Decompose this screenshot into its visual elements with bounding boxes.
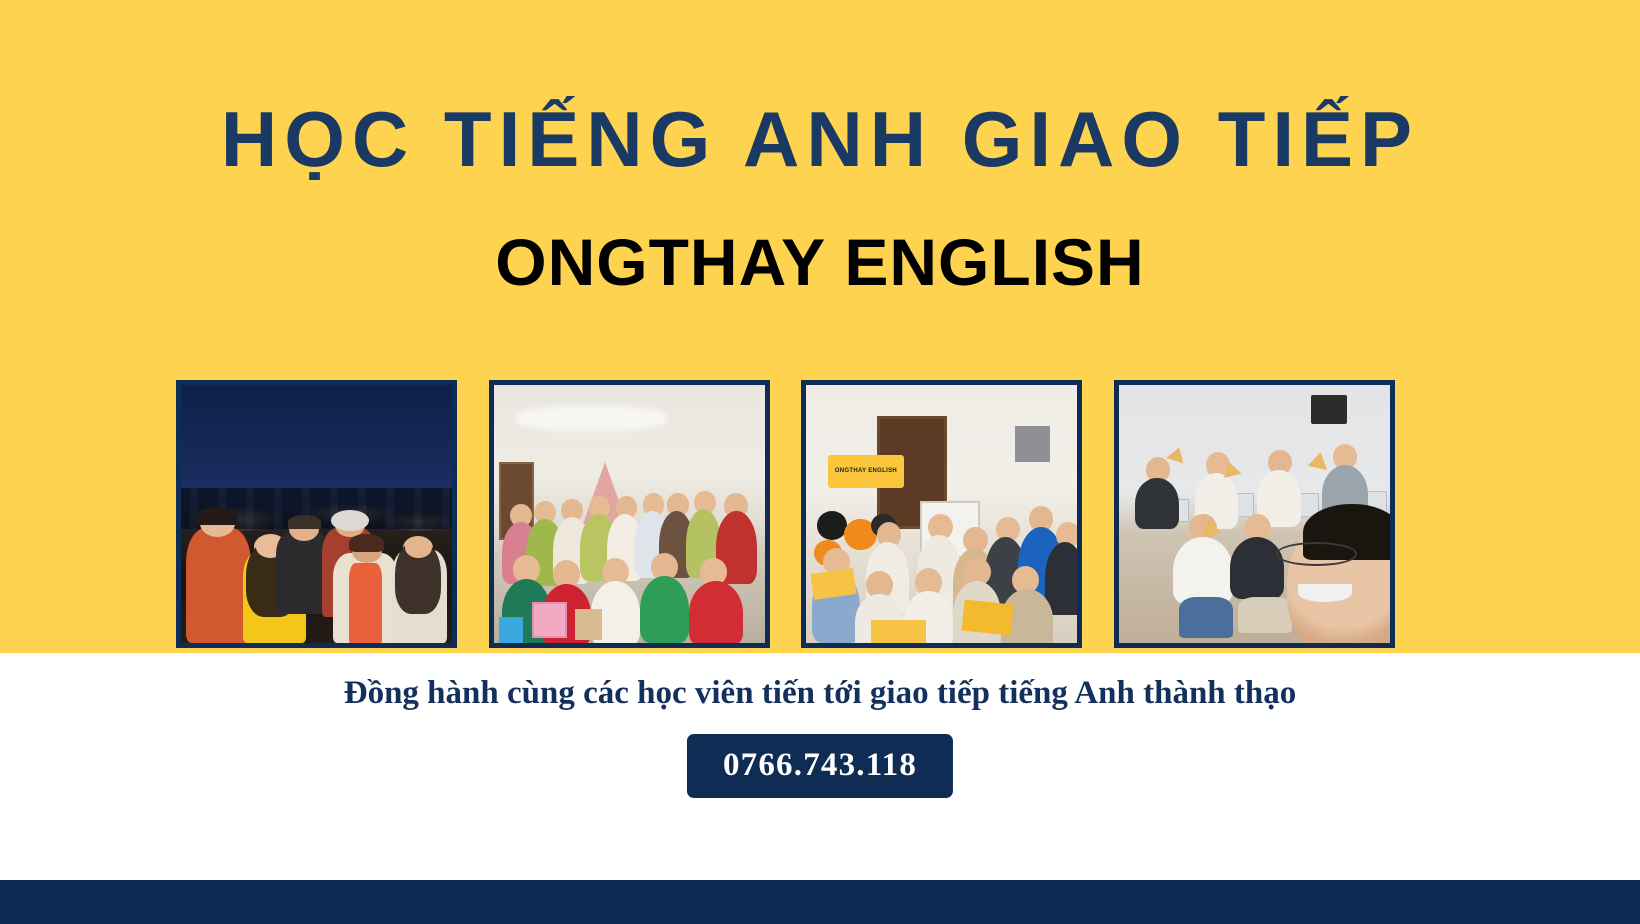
paper-hat	[1199, 518, 1221, 537]
phone-number-button[interactable]: 0766.743.118	[687, 734, 953, 798]
brand-sign: ONGTHAY ENGLISH	[828, 455, 904, 489]
brand-sign-text: ONGTHAY ENGLISH	[835, 468, 897, 474]
photo-halloween-event: ONGTHAY ENGLISH	[806, 385, 1077, 643]
gift-bag	[499, 617, 523, 643]
balloon	[817, 511, 847, 539]
photo-classroom-selfie	[1119, 385, 1390, 643]
photo-frame-4[interactable]	[1114, 380, 1395, 648]
paper-hat	[1307, 450, 1330, 470]
page-title-line-1: HỌC TIẾNG ANH GIAO TIẾP	[0, 92, 1640, 186]
ceiling-light	[515, 406, 667, 432]
photo-frame-2[interactable]	[489, 380, 770, 648]
trousers	[1238, 597, 1292, 633]
banner-root: HỌC TIẾNG ANH GIAO TIẾP ONGTHAY ENGLISH	[0, 0, 1640, 924]
photo-frame-3[interactable]: ONGTHAY ENGLISH	[801, 380, 1082, 648]
paper-hat	[1221, 460, 1242, 478]
photo-night-group	[181, 385, 452, 643]
photo-frame-1[interactable]	[176, 380, 457, 648]
gift-bag	[575, 609, 602, 640]
page-title-line-2: ONGTHAY ENGLISH	[0, 222, 1640, 302]
photo-indoor-party	[494, 385, 765, 643]
glasses-icon	[1276, 542, 1357, 565]
paper-hat	[1166, 444, 1187, 463]
tagline-text: Đồng hành cùng các học viên tiến tới gia…	[0, 672, 1640, 714]
smile	[1298, 584, 1352, 602]
wall-poster	[1311, 395, 1346, 423]
hand-sign	[871, 620, 925, 643]
wall-vent	[1015, 426, 1050, 462]
jeans	[1179, 597, 1233, 638]
bottom-navy-bar	[0, 880, 1640, 924]
photo-gallery-strip: ONGTHAY ENGLISH	[176, 380, 1395, 648]
gift-bag	[532, 602, 567, 638]
hand-sign	[962, 599, 1014, 635]
